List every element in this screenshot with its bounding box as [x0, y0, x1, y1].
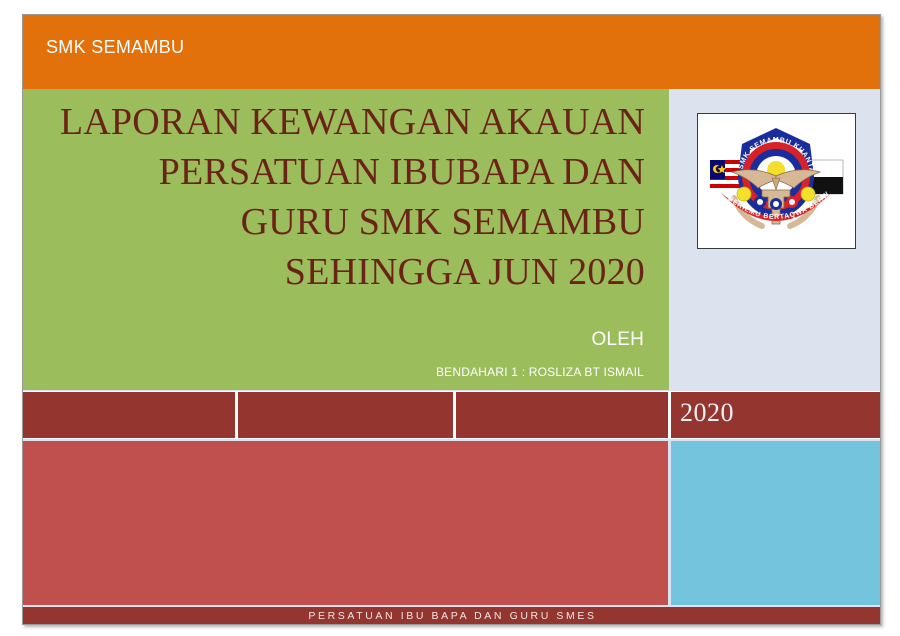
year-label: 2020: [680, 398, 734, 428]
page-title: LAPORAN KEWANGAN AKAUAN PERSATUAN IBUBAP…: [45, 97, 645, 297]
band-cell: [23, 392, 235, 438]
byline-label: OLEH: [591, 329, 644, 351]
presentation-slide[interactable]: SMK SEMAMBU LAPORAN KEWANGAN AKAUAN PERS…: [22, 14, 881, 625]
band-cell: [456, 392, 668, 438]
logo-panel: SMK SEMAMBU KUANTAN PHG: [670, 89, 881, 390]
content-block-right: [671, 441, 881, 605]
school-crest-icon: SMK SEMAMBU KUANTAN PHG: [697, 113, 856, 249]
footer-label: PERSATUAN IBU BAPA DAN GURU SMES: [23, 607, 881, 625]
title-panel: LAPORAN KEWANGAN AKAUAN PERSATUAN IBUBAP…: [23, 89, 669, 390]
slide-canvas: SMK SEMAMBU LAPORAN KEWANGAN AKAUAN PERS…: [0, 0, 900, 636]
band-cell-year: 2020: [671, 392, 881, 438]
author-label: BENDAHARI 1 : ROSLIZA BT ISMAIL: [436, 365, 644, 379]
content-block-left: [23, 441, 668, 605]
divider-band: 2020: [23, 391, 881, 439]
school-name-label: SMK SEMAMBU: [46, 37, 184, 58]
slide-top-banner: SMK SEMAMBU: [23, 15, 881, 89]
band-cell: [238, 392, 453, 438]
slide-footer: PERSATUAN IBU BAPA DAN GURU SMES: [23, 607, 881, 625]
